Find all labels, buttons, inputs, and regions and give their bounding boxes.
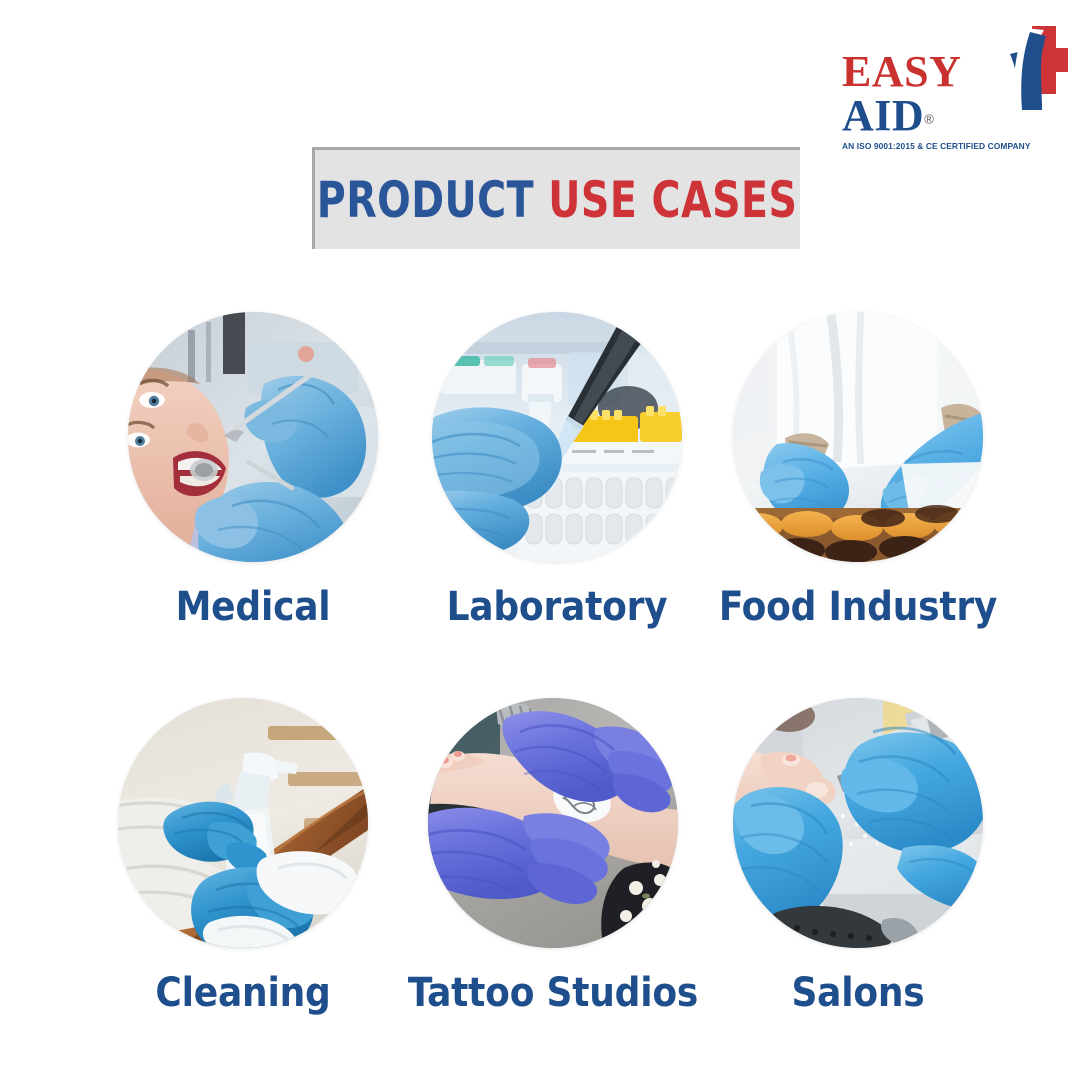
brand-wordmark: EASYAID® AN ISO 9001:2015 & CE CERTIFIED…	[842, 50, 1008, 151]
use-case-row: Medical	[0, 300, 1080, 690]
use-case-label: Food Industry	[708, 584, 1008, 630]
page-title: PRODUCT USE CASES	[317, 171, 798, 229]
use-case-item-cleaning[interactable]: Cleaning	[93, 698, 393, 1016]
page-title-secondary: USE CASES	[549, 171, 798, 229]
use-case-grid: Medical	[0, 300, 1080, 1080]
lab-pipetting-photo	[432, 312, 682, 562]
page-title-primary: PRODUCT	[317, 171, 534, 229]
tattoo-stencil-photo	[428, 698, 678, 948]
surface-cleaning-photo	[118, 698, 368, 948]
use-case-item-medical[interactable]: Medical	[103, 312, 403, 630]
use-case-item-laboratory[interactable]: Laboratory	[407, 312, 707, 630]
title-banner: PRODUCT USE CASES	[312, 147, 800, 249]
use-case-label: Salons	[708, 970, 1008, 1016]
brand-logo: EASYAID® AN ISO 9001:2015 & CE CERTIFIED…	[842, 22, 1068, 114]
use-case-label: Laboratory	[407, 584, 707, 630]
use-case-label: Tattoo Studios	[403, 970, 703, 1016]
poster-canvas: EASYAID® AN ISO 9001:2015 & CE CERTIFIED…	[0, 0, 1080, 1080]
use-case-item-tattoo-studios[interactable]: Tattoo Studios	[403, 698, 703, 1016]
use-case-row: Cleaning	[0, 690, 1080, 1080]
food-production-photo	[733, 312, 983, 562]
brand-name-first: EASY	[842, 50, 961, 94]
use-case-item-food-industry[interactable]: Food Industry	[708, 312, 1008, 630]
registered-mark-icon: ®	[924, 112, 934, 127]
brand-tagline: AN ISO 9001:2015 & CE CERTIFIED COMPANY	[842, 141, 1008, 151]
dental-examination-photo	[128, 312, 378, 562]
use-case-label: Medical	[103, 584, 403, 630]
use-case-item-salons[interactable]: Salons	[708, 698, 1008, 1016]
manicure-photo	[733, 698, 983, 948]
use-case-label: Cleaning	[93, 970, 393, 1016]
brand-name-second: AID	[842, 94, 924, 138]
